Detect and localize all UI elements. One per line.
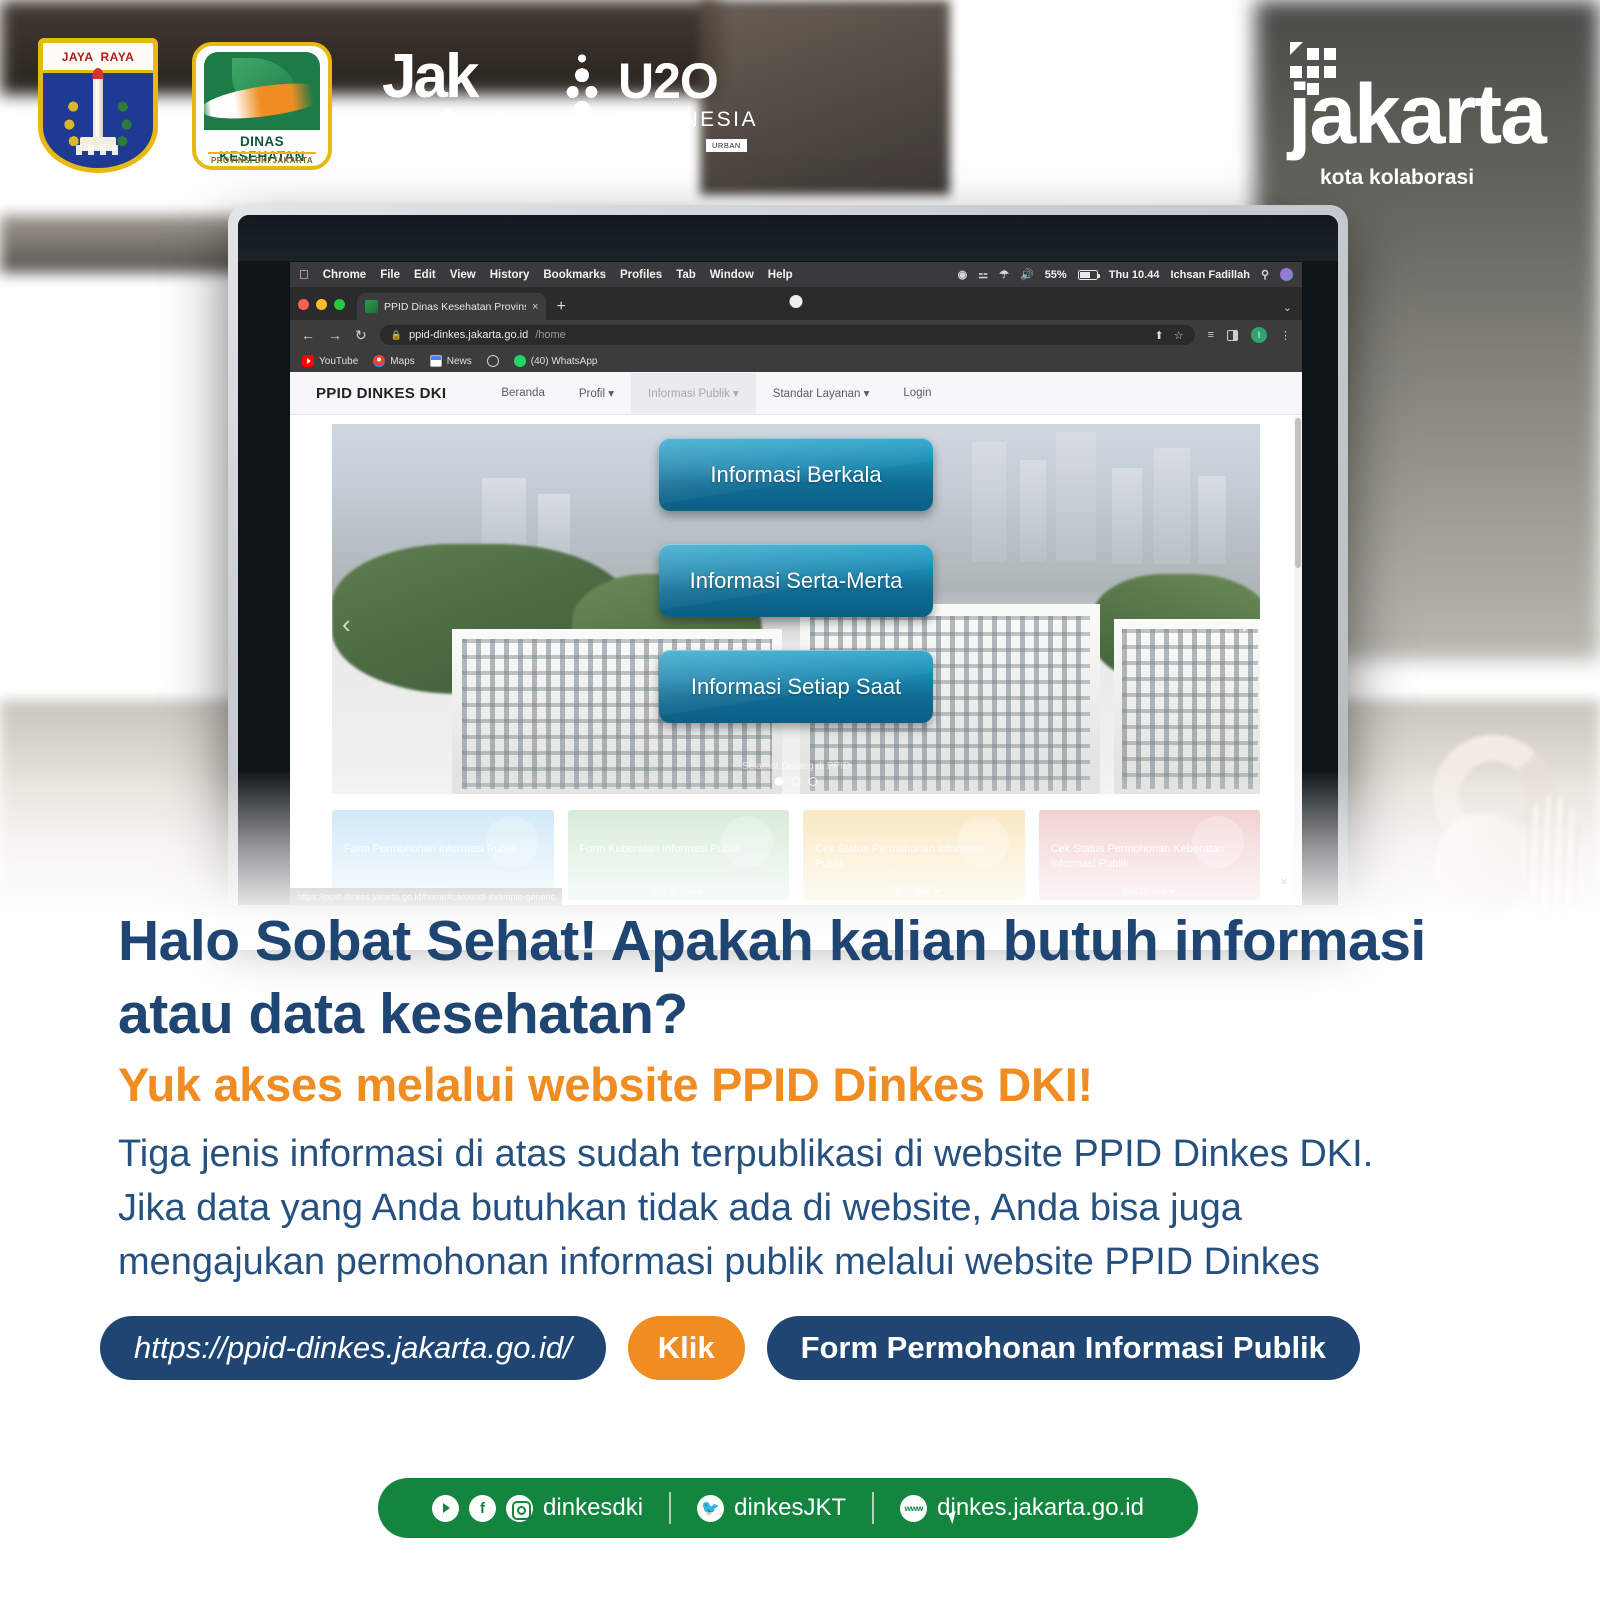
u20-logo: U2O INDONESIA 2022 URBAN <box>556 40 736 170</box>
card-title: Cek Status Permohonan Keberatan Informas… <box>1051 842 1249 872</box>
address-bar[interactable]: 🔒 ppid-dinkes.jakarta.go.id /home ⬆ ☆ <box>380 325 1195 345</box>
volume-icon[interactable]: 🔊 <box>1020 268 1034 281</box>
site-navbar: PPID DINKES DKI Beranda Profil ▾ Informa… <box>290 372 1302 415</box>
klik-button[interactable]: Klik <box>628 1316 745 1380</box>
reading-list-icon[interactable]: ≡ <box>1208 329 1214 341</box>
social-group-website[interactable]: www dinkes.jakarta.go.id <box>874 1494 1170 1522</box>
header-logo-row: JAYA RAYA DINAS KESEHATAN PROVINSI DKI J… <box>0 0 1600 195</box>
tab-title: PPID Dinas Kesehatan Provinsi <box>384 301 526 313</box>
site-brand[interactable]: PPID DINKES DKI <box>316 385 446 402</box>
lock-icon: 🔒 <box>391 330 402 341</box>
card-cek-status-keberatan[interactable]: Cek Status Permohonan Keberatan Informas… <box>1039 810 1261 900</box>
carousel-dot[interactable] <box>809 777 818 786</box>
menu-view[interactable]: View <box>450 269 476 281</box>
nav-standar-layanan[interactable]: Standar Layanan ▾ <box>756 373 887 413</box>
bookmark-label: (40) WhatsApp <box>531 356 598 367</box>
bookmark-label: Maps <box>390 356 414 367</box>
apple-logo-icon[interactable]:  <box>299 267 309 282</box>
cta-row: https://ppid-dinkes.jakarta.go.id/ Klik … <box>100 1316 1600 1380</box>
card-title: Cek Status Permohonan Informasi Publik <box>815 842 1013 872</box>
nav-login[interactable]: Login <box>886 374 948 412</box>
browser-status-bar: https://ppid-dinkes.jakarta.go.id/home#c… <box>290 888 562 905</box>
bookmark-label: News <box>447 356 472 367</box>
www-icon[interactable]: www <box>900 1495 927 1522</box>
maps-icon <box>373 355 385 367</box>
window-controls[interactable] <box>298 299 345 320</box>
carousel-info-buttons: Informasi Berkala Informasi Serta-Merta … <box>659 438 933 723</box>
service-cards: Form Permohonan Informasi Publik Klik Di… <box>332 810 1260 900</box>
u20-badge: URBAN <box>706 139 747 152</box>
social-group-twitter[interactable]: 🐦 dinkesJKT <box>671 1494 872 1522</box>
emblem-text-jaya: JAYA <box>62 50 94 64</box>
laptop-mockup:  Chrome File Edit View History Bookmark… <box>228 205 1348 905</box>
jak-sehat-logo: Jak sehat <box>382 48 522 163</box>
carousel-caption: Selamat Datang di PPID <box>742 761 850 772</box>
card-form-permohonan-informasi[interactable]: Form Permohonan Informasi Publik Klik Di… <box>332 810 554 900</box>
sehat-word: sehat <box>396 105 522 149</box>
browser-tab[interactable]: PPID Dinas Kesehatan Provinsi × <box>357 293 546 320</box>
macos-menubar:  Chrome File Edit View History Bookmark… <box>290 262 1302 287</box>
menubar-username[interactable]: Ichsan Fadillah <box>1170 269 1249 281</box>
nav-informasi-publik[interactable]: Informasi Publik ▾ <box>631 373 756 413</box>
website-viewport: PPID DINKES DKI Beranda Profil ▾ Informa… <box>290 372 1302 905</box>
news-icon <box>430 355 442 367</box>
browser-toolbar: ← → ↻ 🔒 ppid-dinkes.jakarta.go.id /home … <box>290 320 1302 350</box>
nav-beranda[interactable]: Beranda <box>484 374 561 412</box>
youtube-icon <box>302 355 314 367</box>
tab-favicon-icon <box>365 300 378 313</box>
emblem-text-raya: RAYA <box>101 50 135 64</box>
subheadline: Yuk akses melalui website PPID Dinkes DK… <box>118 1057 1438 1112</box>
carousel-indicators[interactable] <box>775 777 818 786</box>
bluetooth-icon[interactable]: ⚍ <box>978 268 988 281</box>
screen-record-icon[interactable]: ◉ <box>958 268 968 281</box>
menu-file[interactable]: File <box>380 269 400 281</box>
headphones-object <box>1425 735 1575 920</box>
bookmark-whatsapp[interactable]: (40) WhatsApp <box>514 355 598 367</box>
search-icon[interactable]: ⚲ <box>1261 268 1269 281</box>
menu-tab[interactable]: Tab <box>676 269 696 281</box>
menu-chrome[interactable]: Chrome <box>323 269 366 281</box>
social-footer-bar: f dinkesdki 🐦 dinkesJKT www dinkes.jakar… <box>378 1478 1198 1538</box>
hero-carousel[interactable]: Informasi Berkala Informasi Serta-Merta … <box>332 424 1260 794</box>
carousel-next-icon[interactable]: › <box>1241 609 1250 640</box>
waves-icon <box>76 145 120 155</box>
whatsapp-icon <box>514 355 526 367</box>
webcam-notch-icon <box>790 295 803 308</box>
battery-percent: 55% <box>1045 269 1067 281</box>
social-handle: dinkes.jakarta.go.id <box>937 1494 1144 1522</box>
form-permohonan-button[interactable]: Form Permohonan Informasi Publik <box>767 1316 1360 1380</box>
social-handle: dinkesdki <box>543 1494 643 1522</box>
card-title: Form Keberatan Informasi Publik <box>580 842 778 857</box>
jakarta-tagline: kota kolaborasi <box>1320 166 1474 190</box>
menu-history[interactable]: History <box>490 269 530 281</box>
u20-country: INDONESIA <box>620 108 758 132</box>
jakarta-wordmark: jakarta <box>1288 78 1545 152</box>
carousel-prev-icon[interactable]: ‹ <box>342 609 351 640</box>
bookmark-news[interactable]: News <box>430 355 472 367</box>
card-cek-status-permohonan[interactable]: Cek Status Permohonan Informasi Publik K… <box>803 810 1025 900</box>
u20-year: 2022 <box>620 136 677 159</box>
close-icon[interactable]: × <box>1280 874 1288 889</box>
button-label: Informasi Serta-Merta <box>690 568 903 594</box>
bookmark-star-icon[interactable]: ☆ <box>1174 329 1184 342</box>
maximize-window-button[interactable] <box>334 299 345 310</box>
card-link[interactable]: Klik Di Sini ➤ <box>887 886 940 897</box>
side-panel-icon[interactable] <box>1227 330 1238 341</box>
profile-avatar[interactable]: I <box>1251 327 1267 343</box>
clock-icon <box>487 355 499 367</box>
minimize-window-button[interactable] <box>316 299 327 310</box>
u20-word: U2O <box>618 52 718 110</box>
browser-tabstrip: PPID Dinas Kesehatan Provinsi × + ⌄ <box>290 287 1302 320</box>
button-label: Informasi Setiap Saat <box>691 674 901 700</box>
jakarta-logo: jakarta kota kolaborasi <box>1232 36 1532 166</box>
batik-ornament-icon <box>556 44 608 164</box>
twitter-icon[interactable]: 🐦 <box>697 1495 724 1522</box>
jak-word: Jak <box>382 48 522 105</box>
headline: Halo Sobat Sehat! Apakah kalian butuh in… <box>118 905 1438 1051</box>
page-scrollbar[interactable] <box>1294 416 1302 905</box>
menu-window[interactable]: Window <box>710 269 754 281</box>
screen-background <box>238 215 1338 261</box>
address-host: ppid-dinkes.jakarta.go.id <box>409 329 528 341</box>
bookmark-label: YouTube <box>319 356 358 367</box>
body-paragraph: Tiga jenis informasi di atas sudah terpu… <box>118 1128 1438 1290</box>
bookmarks-bar: YouTube Maps News (40) WhatsApp <box>290 350 1302 372</box>
menu-help[interactable]: Help <box>768 269 793 281</box>
share-icon[interactable]: ⬆ <box>1154 329 1163 342</box>
dki-jakarta-emblem: JAYA RAYA <box>38 38 158 173</box>
nav-profil[interactable]: Profil ▾ <box>562 373 631 413</box>
menu-bookmarks[interactable]: Bookmarks <box>543 269 606 281</box>
button-informasi-berkala[interactable]: Informasi Berkala <box>659 438 933 511</box>
bookmark-maps[interactable]: Maps <box>373 355 414 367</box>
dinkes-subtitle: PROVINSI DKI JAKARTA <box>208 152 316 169</box>
bookmark-youtube[interactable]: YouTube <box>302 355 358 367</box>
reload-icon[interactable]: ↻ <box>355 327 367 344</box>
bookmark-clock[interactable] <box>487 355 499 367</box>
menu-edit[interactable]: Edit <box>414 269 436 281</box>
promo-text-block: Halo Sobat Sehat! Apakah kalian butuh in… <box>0 905 1600 1380</box>
wifi-icon[interactable]: ☂ <box>999 268 1009 281</box>
facebook-icon[interactable]: f <box>469 1495 496 1522</box>
button-informasi-serta-merta[interactable]: Informasi Serta-Merta <box>659 544 933 617</box>
tab-list-chevron-icon[interactable]: ⌄ <box>1283 301 1292 314</box>
button-label: Informasi Berkala <box>710 462 881 488</box>
address-path: /home <box>535 329 566 341</box>
forward-icon[interactable]: → <box>328 327 342 343</box>
menubar-clock: Thu 10.44 <box>1109 269 1160 281</box>
button-informasi-setiap-saat[interactable]: Informasi Setiap Saat <box>659 650 933 723</box>
card-title: Form Permohonan Informasi Publik <box>344 842 542 857</box>
card-link[interactable]: Klik Di Sini ➤ <box>652 886 705 897</box>
close-window-button[interactable] <box>298 299 309 310</box>
tab-close-icon[interactable]: × <box>532 301 538 313</box>
carousel-dot[interactable] <box>792 777 801 786</box>
scrollbar-thumb[interactable] <box>1295 418 1301 568</box>
card-link[interactable]: Klik Di Sini ➤ <box>1123 886 1176 897</box>
battery-icon <box>1078 270 1098 280</box>
carousel-dot[interactable] <box>775 777 784 786</box>
control-center-icon[interactable] <box>1280 268 1293 281</box>
dinas-kesehatan-logo: DINAS KESEHATAN PROVINSI DKI JAKARTA <box>192 42 332 170</box>
back-icon[interactable]: ← <box>301 327 315 343</box>
instagram-icon[interactable] <box>506 1495 533 1522</box>
laptop-screen:  Chrome File Edit View History Bookmark… <box>238 215 1338 905</box>
menu-profiles[interactable]: Profiles <box>620 269 662 281</box>
chrome-menu-icon[interactable]: ⋮ <box>1280 329 1291 342</box>
card-form-keberatan-informasi[interactable]: Form Keberatan Informasi Publik Klik Di … <box>568 810 790 900</box>
youtube-icon[interactable] <box>432 1495 459 1522</box>
new-tab-button[interactable]: + <box>556 298 565 320</box>
website-url-pill[interactable]: https://ppid-dinkes.jakarta.go.id/ <box>100 1316 606 1380</box>
social-handle: dinkesJKT <box>734 1494 846 1522</box>
laptop-frame:  Chrome File Edit View History Bookmark… <box>228 205 1348 905</box>
social-group-dinkesdki[interactable]: f dinkesdki <box>406 1494 669 1522</box>
